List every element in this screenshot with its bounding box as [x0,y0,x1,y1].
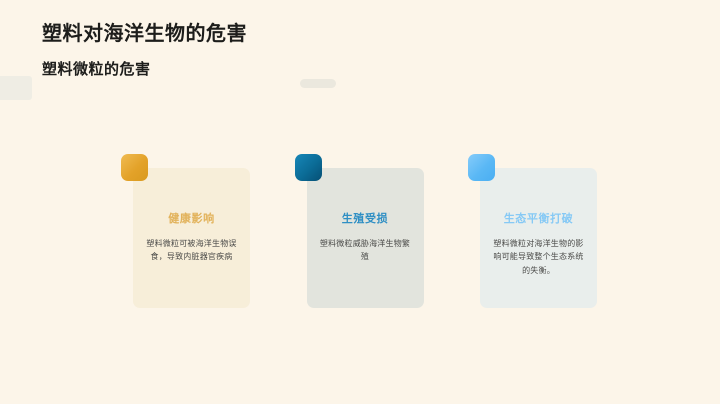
slide-canvas: 塑料对海洋生物的危害 塑料微粒的危害 健康影响 塑料微粒可被海洋生物误食，导致内… [0,0,720,404]
page-subtitle: 塑料微粒的危害 [42,61,247,80]
cards-row: 健康影响 塑料微粒可被海洋生物误食，导致内脏器官疾病 生殖受损 塑料微粒威胁海洋… [133,168,597,308]
card-heading: 生态平衡打破 [488,212,589,226]
rounded-square-icon [295,154,322,181]
card-heading: 健康影响 [141,212,242,226]
rounded-square-icon [121,154,148,181]
card-body-text: 塑料微粒可被海洋生物误食，导致内脏器官疾病 [141,237,242,263]
card-body-text: 塑料微粒对海洋生物的影响可能导致整个生态系统的失衡。 [488,237,589,277]
card-body-text: 塑料微粒威胁海洋生物繁殖 [315,237,416,263]
rounded-square-icon [468,154,495,181]
decorative-band-left [0,76,32,100]
card-health-impact[interactable]: 健康影响 塑料微粒可被海洋生物误食，导致内脏器官疾病 [133,168,250,308]
card-ecological-balance[interactable]: 生态平衡打破 塑料微粒对海洋生物的影响可能导致整个生态系统的失衡。 [480,168,597,308]
decorative-pill [300,79,336,88]
slide-header: 塑料对海洋生物的危害 塑料微粒的危害 [42,22,247,80]
card-reproductive-damage[interactable]: 生殖受损 塑料微粒威胁海洋生物繁殖 [307,168,424,308]
page-title: 塑料对海洋生物的危害 [42,22,247,47]
card-heading: 生殖受损 [315,212,416,226]
